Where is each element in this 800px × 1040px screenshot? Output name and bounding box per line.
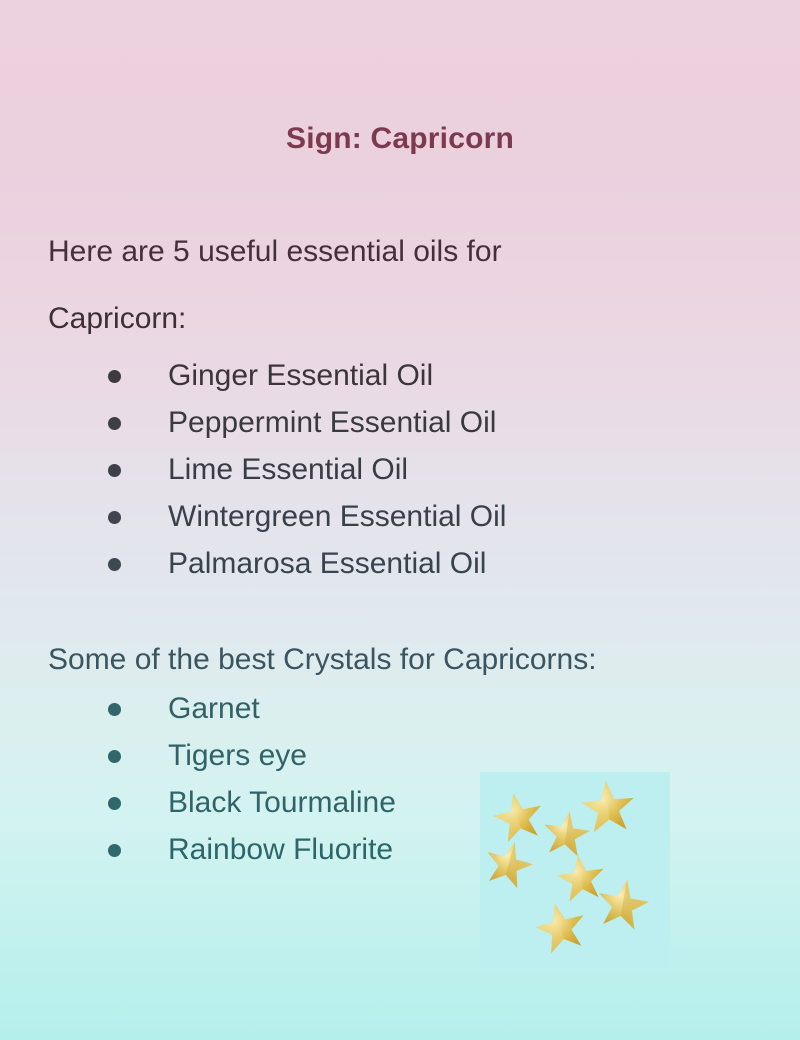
list-item-label: Rainbow Fluorite bbox=[168, 833, 393, 866]
list-item: Black Tourmaline bbox=[0, 779, 396, 826]
list-item: Ginger Essential Oil bbox=[0, 352, 506, 399]
bullet-dot-icon bbox=[108, 797, 121, 810]
intro-line-1: Here are 5 useful essential oils for bbox=[48, 218, 748, 285]
list-item-label: Black Tourmaline bbox=[168, 786, 396, 819]
list-item-label: Ginger Essential Oil bbox=[168, 359, 433, 392]
list-item: Lime Essential Oil bbox=[0, 446, 506, 493]
list-item-label: Garnet bbox=[168, 692, 260, 725]
list-item: Palmarosa Essential Oil bbox=[0, 540, 506, 587]
essential-oils-list: Ginger Essential Oil Peppermint Essentia… bbox=[0, 352, 506, 587]
bullet-dot-icon bbox=[108, 370, 121, 383]
bullet-dot-icon bbox=[108, 703, 121, 716]
list-item-label: Palmarosa Essential Oil bbox=[168, 547, 486, 580]
page-title: Sign: Capricorn bbox=[0, 122, 800, 156]
slide-canvas: Sign: Capricorn Here are 5 useful essent… bbox=[0, 0, 800, 1040]
crystals-list: Garnet Tigers eye Black Tourmaline Rainb… bbox=[0, 685, 396, 873]
bullet-dot-icon bbox=[108, 511, 121, 524]
bullet-dot-icon bbox=[108, 464, 121, 477]
bullet-dot-icon bbox=[108, 844, 121, 857]
list-item-label: Lime Essential Oil bbox=[168, 453, 408, 486]
crystals-heading: Some of the best Crystals for Capricorns… bbox=[48, 640, 597, 680]
list-item: Tigers eye bbox=[0, 732, 396, 779]
gold-stars-image bbox=[480, 772, 670, 968]
bullet-dot-icon bbox=[108, 750, 121, 763]
intro-paragraph: Here are 5 useful essential oils for Cap… bbox=[48, 218, 748, 352]
list-item-label: Tigers eye bbox=[168, 739, 307, 772]
list-item: Wintergreen Essential Oil bbox=[0, 493, 506, 540]
list-item: Garnet bbox=[0, 685, 396, 732]
list-item: Rainbow Fluorite bbox=[0, 826, 396, 873]
list-item-label: Wintergreen Essential Oil bbox=[168, 500, 506, 533]
intro-line-2: Capricorn: bbox=[48, 285, 748, 352]
bullet-dot-icon bbox=[108, 558, 121, 571]
list-item-label: Peppermint Essential Oil bbox=[168, 406, 496, 439]
list-item: Peppermint Essential Oil bbox=[0, 399, 506, 446]
bullet-dot-icon bbox=[108, 417, 121, 430]
